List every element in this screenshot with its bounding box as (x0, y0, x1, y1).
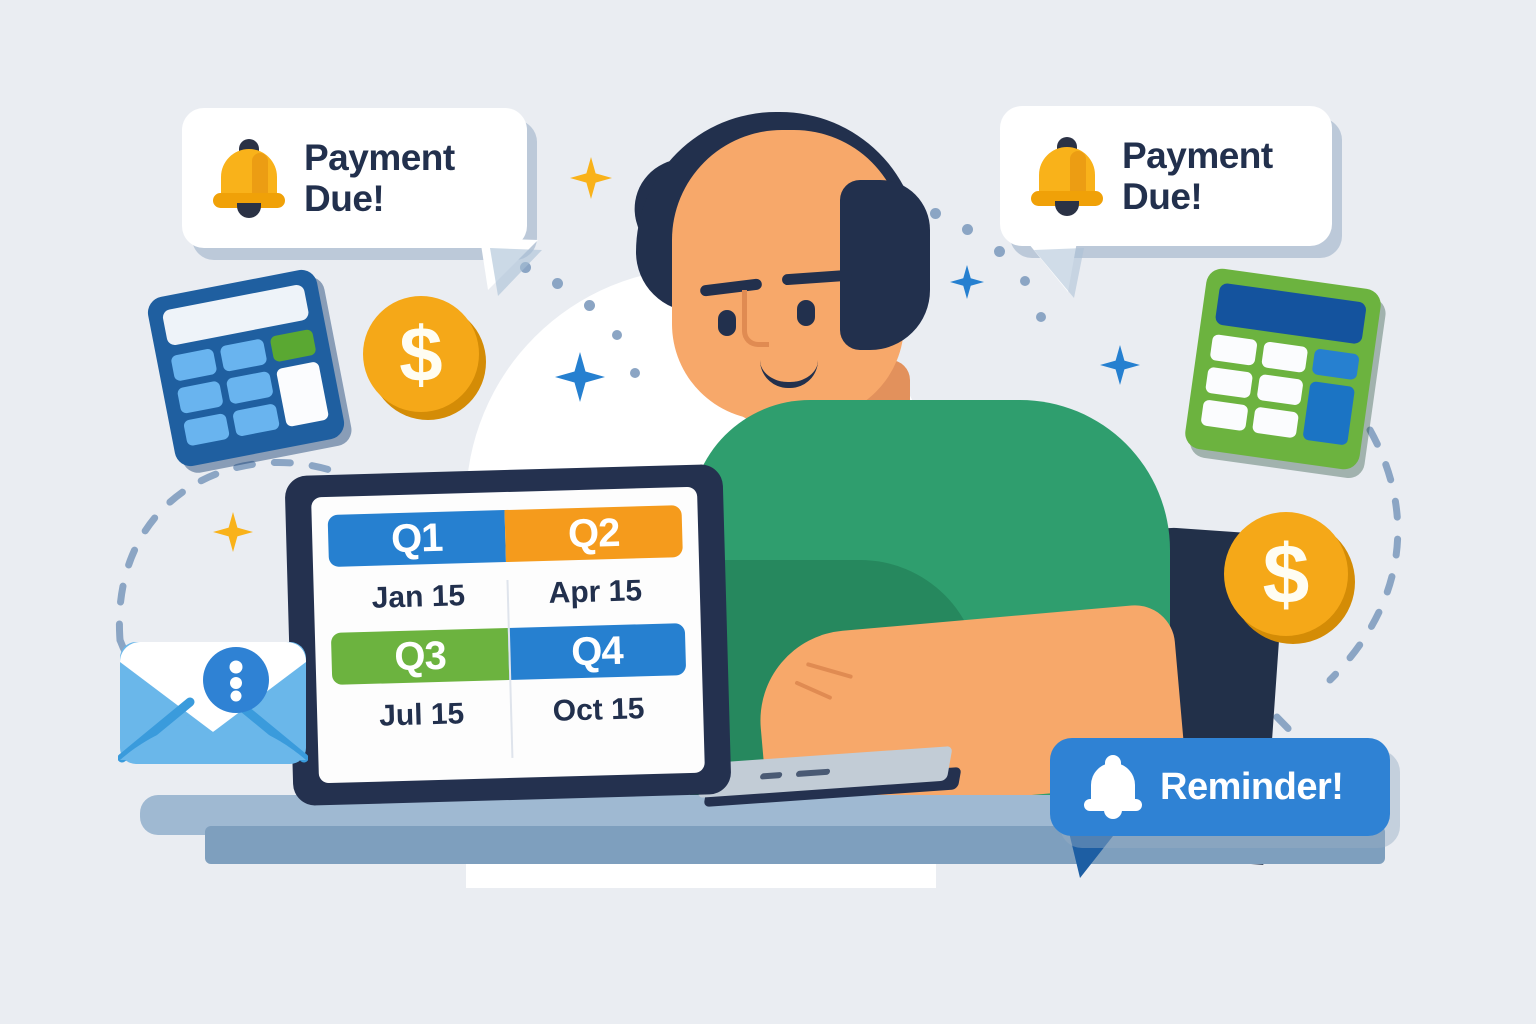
quarter-chip-q4: Q4 (508, 623, 686, 680)
quarter-date-q1: Jan 15 (329, 562, 508, 633)
bubble-label: Payment Due! (304, 137, 455, 220)
reminder-label: Reminder! (1160, 766, 1343, 809)
laptop-port (760, 772, 783, 780)
bubble-label: Payment Due! (1122, 135, 1273, 218)
quarter-cell-q4[interactable]: Q4 Oct 15 (508, 623, 688, 746)
laptop-lid: Q1 Jan 15 Q2 Apr 15 Q3 Jul 15 Q4 (284, 464, 731, 806)
calculator-key (226, 371, 273, 405)
quarter-chip-q1: Q1 (328, 510, 506, 567)
calculator-accent-key (1312, 348, 1360, 380)
calculator-key (183, 413, 230, 447)
quarter-row-1: Q1 Jan 15 Q2 Apr 15 (328, 505, 685, 633)
calculator-accent-key (269, 329, 316, 363)
quarter-cell-q3[interactable]: Q3 Jul 15 (331, 628, 511, 751)
hair-side (840, 180, 930, 350)
calculator-key (170, 348, 217, 382)
quarter-date-q2: Apr 15 (506, 557, 685, 628)
trail-dot (994, 246, 1005, 257)
quarter-cell-q2[interactable]: Q2 Apr 15 (505, 505, 685, 628)
trail-dot (962, 224, 973, 235)
sparkle-icon-blue (950, 265, 984, 299)
calculator-key (232, 403, 279, 437)
calculator-keypad (1200, 334, 1359, 446)
trail-dot (930, 208, 941, 219)
email-alert-icon (118, 640, 308, 766)
calculator-key (1252, 406, 1300, 438)
bubble-tail-right (1016, 236, 1096, 298)
calculator-enter-key (275, 361, 329, 427)
knuckle-line (794, 680, 832, 700)
calculator-icon-right (1183, 267, 1383, 472)
nose (742, 290, 769, 347)
trail-dot (1036, 312, 1046, 322)
payment-due-bubble-left[interactable]: Payment Due! (182, 108, 527, 248)
dollar-symbol: $ (1263, 532, 1310, 616)
eye-right (797, 300, 815, 326)
illustration-canvas: Q1 Jan 15 Q2 Apr 15 Q3 Jul 15 Q4 (0, 0, 1536, 1024)
trail-dot (630, 368, 640, 378)
quarter-chip-q2: Q2 (505, 505, 683, 562)
quarter-date-q3: Jul 15 (332, 680, 511, 751)
trail-dot (612, 330, 622, 340)
quarter-cell-q1[interactable]: Q1 Jan 15 (328, 510, 508, 633)
knuckle-line (806, 662, 853, 679)
calculator-key (1205, 367, 1253, 399)
calculator-key (1210, 334, 1258, 366)
calculator-keypad (170, 329, 329, 447)
sparkle-icon-blue (1100, 345, 1140, 385)
laptop-port (796, 769, 831, 777)
calculator-key (1261, 341, 1309, 373)
dollar-coin-icon: $ (1224, 512, 1348, 636)
bell-icon (212, 139, 286, 217)
calculator-icon-left (145, 267, 347, 469)
calculator-key (1256, 374, 1304, 406)
calculator-key (1200, 399, 1248, 431)
calculator-key (177, 380, 224, 414)
reminder-bubble[interactable]: Reminder! (1050, 738, 1390, 836)
eye-left (718, 310, 736, 336)
sparkle-icon-yellow (213, 512, 253, 552)
payment-due-bubble-right[interactable]: Payment Due! (1000, 106, 1332, 246)
laptop-screen: Q1 Jan 15 Q2 Apr 15 Q3 Jul 15 Q4 (311, 487, 705, 784)
calculator-display (1215, 282, 1367, 344)
sparkle-icon-yellow (570, 157, 612, 199)
bell-icon (1084, 755, 1142, 819)
bell-icon (1030, 137, 1104, 215)
bubble-tail-left (480, 238, 550, 298)
trail-dot (552, 278, 563, 289)
quarter-date-q4: Oct 15 (509, 675, 688, 746)
trail-dot (584, 300, 595, 311)
calculator-key (220, 338, 267, 372)
dollar-symbol: $ (399, 315, 442, 393)
calculator-enter-key (1303, 381, 1355, 446)
quarter-chip-q3: Q3 (331, 628, 509, 685)
dollar-coin-icon: $ (363, 296, 479, 412)
